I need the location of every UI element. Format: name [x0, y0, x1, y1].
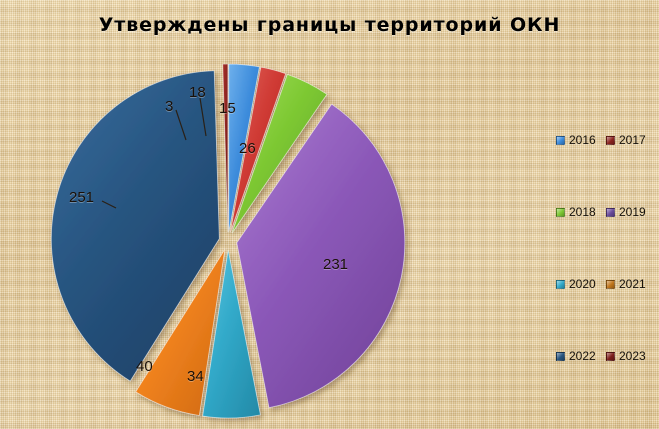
data-label-2023: 3: [165, 98, 173, 115]
legend-item-2021[interactable]: 2021: [606, 278, 656, 290]
chart-legend: 2016 2017 2018 2019 2020: [556, 126, 656, 374]
legend-row: 2020 2021: [556, 276, 656, 292]
legend-item-2022[interactable]: 2022: [556, 350, 606, 362]
legend-swatch-icon: [556, 352, 565, 361]
legend-row: 2022 2023: [556, 348, 656, 364]
data-label-2022: 251: [69, 189, 94, 206]
data-label-2020: 34: [187, 368, 204, 385]
chart-canvas: Утверждены границы территорий ОКН: [0, 0, 659, 429]
pie-slice-2023[interactable]: [223, 64, 228, 232]
legend-item-2016[interactable]: 2016: [556, 134, 606, 146]
legend-label: 2016: [569, 134, 596, 146]
legend-label: 2022: [569, 350, 596, 362]
legend-label: 2018: [569, 206, 596, 218]
legend-swatch-icon: [556, 208, 565, 217]
chart-title: Утверждены границы территорий ОКН: [0, 14, 659, 36]
legend-label: 2020: [569, 278, 596, 290]
legend-item-2020[interactable]: 2020: [556, 278, 606, 290]
legend-swatch-icon: [606, 136, 615, 145]
legend-row: 2018 2019: [556, 204, 656, 220]
data-label-2019: 231: [323, 256, 348, 273]
legend-label: 2019: [619, 206, 646, 218]
pie-chart-svg: [0, 36, 545, 429]
legend-row: 2016 2017: [556, 132, 656, 148]
legend-swatch-icon: [606, 280, 615, 289]
legend-item-2019[interactable]: 2019: [606, 206, 656, 218]
pie-chart-plot-area: 3 18 15 26 231 34 40 251: [0, 36, 545, 429]
data-label-2021: 40: [136, 358, 153, 375]
legend-swatch-icon: [556, 136, 565, 145]
legend-item-2018[interactable]: 2018: [556, 206, 606, 218]
legend-item-2023[interactable]: 2023: [606, 350, 656, 362]
legend-item-2017[interactable]: 2017: [606, 134, 656, 146]
legend-label: 2021: [619, 278, 646, 290]
legend-swatch-icon: [606, 352, 615, 361]
legend-label: 2023: [619, 350, 646, 362]
legend-swatch-icon: [606, 208, 615, 217]
data-label-2018: 26: [239, 140, 256, 157]
legend-swatch-icon: [556, 280, 565, 289]
data-label-2017: 15: [219, 100, 236, 117]
legend-label: 2017: [619, 134, 646, 146]
data-label-2016: 18: [189, 84, 206, 101]
